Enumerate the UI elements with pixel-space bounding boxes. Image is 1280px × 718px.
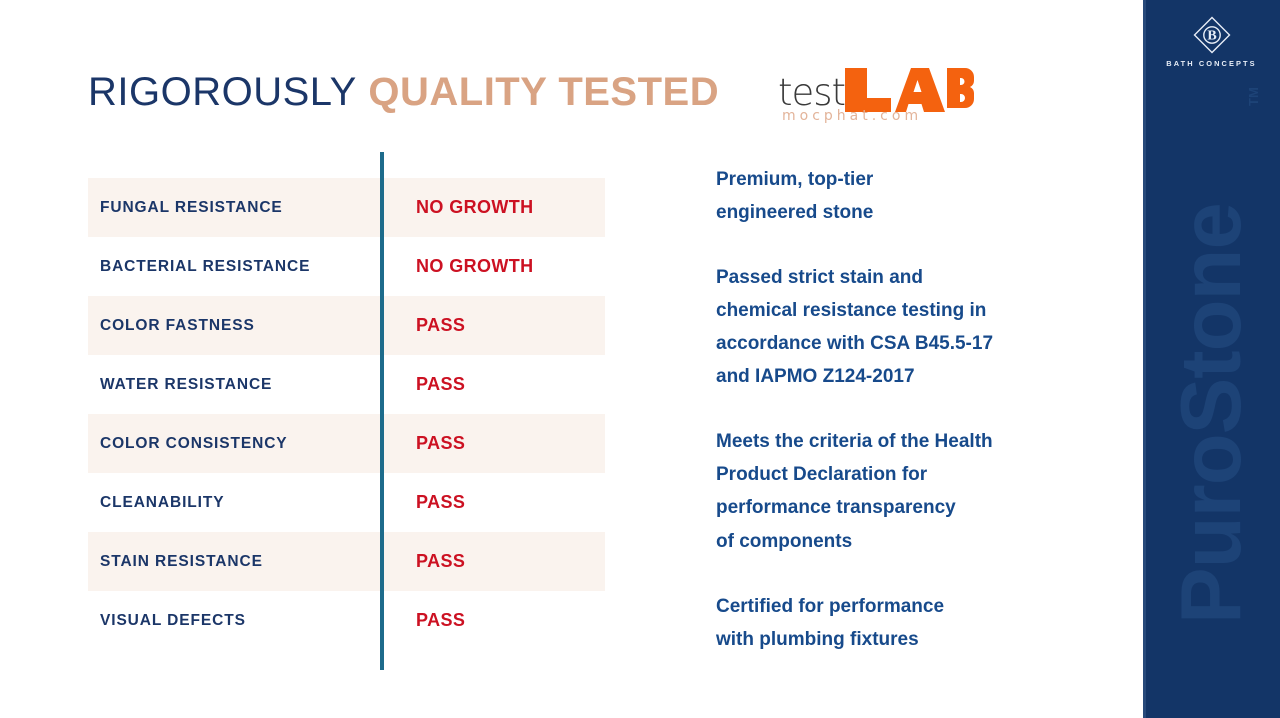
table-row: BACTERIAL RESISTANCE NO GROWTH <box>88 237 605 296</box>
table-cell-test-result: NO GROWTH <box>416 197 534 218</box>
page-title-light: RIGOROUSLY <box>88 70 357 114</box>
table-cell-test-name: STAIN RESISTANCE <box>100 553 263 571</box>
table-cell-test-result: PASS <box>416 433 465 454</box>
table-row: VISUAL DEFECTS PASS <box>88 591 605 650</box>
testlab-logo-test-text: test <box>778 74 845 112</box>
results-table: FUNGAL RESISTANCE NO GROWTH BACTERIAL RE… <box>88 178 605 650</box>
table-cell-test-result: NO GROWTH <box>416 256 534 277</box>
table-cell-test-name: BACTERIAL RESISTANCE <box>100 258 310 276</box>
testlab-logo-domain: mocphat.com <box>782 108 922 124</box>
copy-paragraph: Meets the criteria of the Health Product… <box>716 425 1116 558</box>
copy-column: Premium, top-tier engineered stone Passe… <box>716 163 1116 657</box>
table-cell-test-name: CLEANABILITY <box>100 494 224 512</box>
product-name-watermark: PuroStone <box>1169 94 1255 624</box>
table-cell-test-name: COLOR CONSISTENCY <box>100 435 288 453</box>
copy-paragraph: Certified for performance with plumbing … <box>716 590 1116 657</box>
testlab-logo-wordmark: test <box>778 56 977 114</box>
table-row: COLOR FASTNESS PASS <box>88 296 605 355</box>
page-title-bold: QUALITY TESTED <box>368 70 719 114</box>
brand-sidebar: PuroStone TM B BATH CONCEPTS <box>1143 0 1280 718</box>
header: RIGOROUSLY QUALITY TESTED test mocphat.c… <box>88 62 1028 138</box>
table-cell-test-name: FUNGAL RESISTANCE <box>100 199 283 217</box>
trademark-symbol: TM <box>1246 87 1261 106</box>
table-row: WATER RESISTANCE PASS <box>88 355 605 414</box>
brand-name-label: BATH CONCEPTS <box>1143 59 1280 68</box>
testlab-logo: test mocphat.com <box>778 56 1018 140</box>
table-column-divider <box>380 152 384 670</box>
diamond-monogram-icon: B <box>1191 14 1233 56</box>
table-cell-test-result: PASS <box>416 551 465 572</box>
testlab-logo-lab-icon <box>843 66 975 114</box>
table-row: STAIN RESISTANCE PASS <box>88 532 605 591</box>
brand-logo: B BATH CONCEPTS <box>1143 14 1280 68</box>
table-row: COLOR CONSISTENCY PASS <box>88 414 605 473</box>
table-cell-test-result: PASS <box>416 374 465 395</box>
table-row: CLEANABILITY PASS <box>88 473 605 532</box>
svg-text:B: B <box>1207 29 1216 44</box>
slide-canvas: RIGOROUSLY QUALITY TESTED test mocphat.c… <box>0 0 1280 718</box>
table-cell-test-result: PASS <box>416 610 465 631</box>
table-cell-test-name: COLOR FASTNESS <box>100 317 255 335</box>
copy-paragraph: Premium, top-tier engineered stone <box>716 163 1116 230</box>
table-cell-test-result: PASS <box>416 315 465 336</box>
table-cell-test-name: VISUAL DEFECTS <box>100 612 246 630</box>
page-title: RIGOROUSLY QUALITY TESTED <box>88 62 719 122</box>
copy-paragraph: Passed strict stain and chemical resista… <box>716 261 1116 394</box>
table-row: FUNGAL RESISTANCE NO GROWTH <box>88 178 605 237</box>
table-cell-test-result: PASS <box>416 492 465 513</box>
table-cell-test-name: WATER RESISTANCE <box>100 376 272 394</box>
sidebar-edge-stripe <box>1143 0 1146 718</box>
